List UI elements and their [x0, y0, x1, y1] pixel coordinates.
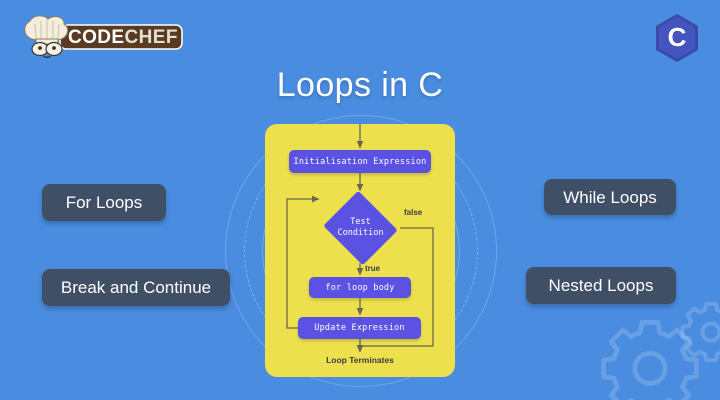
c-language-logo-icon: C	[654, 13, 700, 63]
svg-text:C: C	[668, 22, 687, 52]
page-title: Loops in C	[0, 66, 720, 105]
topic-button-for-loops[interactable]: For Loops	[42, 184, 166, 221]
edge-label-false: false	[404, 208, 422, 217]
topic-button-break-and-continue[interactable]: Break and Continue	[42, 269, 230, 306]
gear-icon	[596, 316, 704, 400]
test-condition-line-2: Condition	[337, 228, 383, 239]
flowchart-panel: Initialisation Expression Test Condition…	[265, 124, 455, 377]
topic-button-while-loops[interactable]: While Loops	[544, 179, 676, 215]
gear-icon	[678, 300, 720, 366]
slide-canvas: CODECHEF C Loops in C For	[0, 0, 720, 400]
codechef-logo[interactable]: CODECHEF	[18, 12, 184, 62]
test-condition-line-1: Test	[350, 217, 370, 228]
flow-label-loop-terminates: Loop Terminates	[265, 355, 455, 365]
flow-node-loop-body[interactable]: for loop body	[309, 277, 411, 298]
flow-node-test-condition[interactable]: Test Condition	[321, 193, 400, 263]
edge-label-true: true	[365, 264, 380, 273]
svg-text:CODECHEF: CODECHEF	[68, 27, 178, 48]
topic-button-nested-loops[interactable]: Nested Loops	[526, 267, 676, 304]
flow-node-update-expression[interactable]: Update Expression	[298, 317, 421, 339]
diamond-label: Test Condition	[321, 193, 400, 263]
flow-node-initialisation[interactable]: Initialisation Expression	[289, 150, 431, 173]
